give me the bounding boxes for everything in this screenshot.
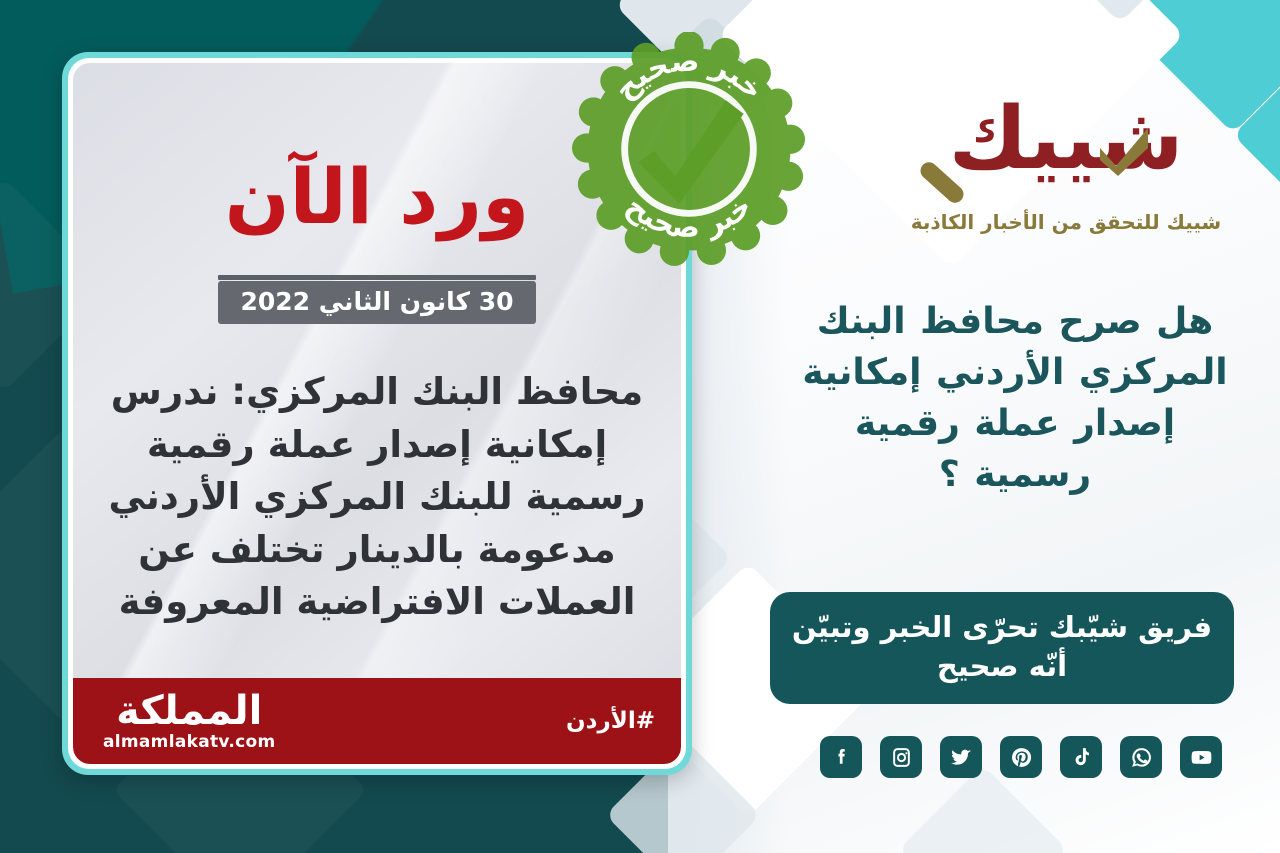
verified-stamp: خبر صحيح خبر صحيح bbox=[572, 32, 806, 266]
facebook-icon[interactable] bbox=[820, 736, 862, 778]
infographic-canvas: ورد الآن 30 كانون الثاني 2022 محافظ البن… bbox=[0, 0, 1280, 853]
verdict-box: فريق شيّبك تحرّى الخبر وتبيّن أنّه صحيح bbox=[770, 592, 1234, 704]
tiktok-icon[interactable] bbox=[1060, 736, 1102, 778]
chyyak-logo-tagline: شييك للتحقق من الأخبار الكاذبة bbox=[898, 210, 1234, 234]
chyyak-logo-wordmark: شييك bbox=[898, 96, 1234, 182]
chyyak-logo[interactable]: شييك شييك للتحقق من الأخبار الكاذبة bbox=[898, 96, 1234, 234]
twitter-icon[interactable] bbox=[940, 736, 982, 778]
almamlaka-logo[interactable]: المملكة almamlakatv.com bbox=[103, 691, 276, 751]
news-card-footer: #الأردن المملكة almamlakatv.com bbox=[73, 678, 681, 764]
almamlaka-brand-name: المملكة bbox=[103, 691, 276, 731]
chyyak-logo-mark: شييك bbox=[898, 96, 1234, 208]
hashtag-label[interactable]: #الأردن bbox=[566, 708, 655, 734]
youtube-icon[interactable] bbox=[1180, 736, 1222, 778]
pinterest-icon[interactable] bbox=[1000, 736, 1042, 778]
social-links bbox=[820, 736, 1222, 778]
panel-diamond-grey-5 bbox=[898, 765, 1068, 853]
whatsapp-icon[interactable] bbox=[1120, 736, 1162, 778]
news-card-text: محافظ البنك المركزي: ندرس إمكانية إصدار … bbox=[107, 366, 647, 629]
date-rule bbox=[218, 275, 536, 280]
magnifier-check-icon bbox=[1094, 122, 1154, 178]
instagram-icon[interactable] bbox=[880, 736, 922, 778]
fact-check-question: هل صرح محافظ البنك المركزي الأردني إمكان… bbox=[790, 296, 1240, 500]
almamlaka-url: almamlakatv.com bbox=[103, 734, 276, 751]
news-card-date: 30 كانون الثاني 2022 bbox=[218, 281, 535, 324]
news-card-date-group: 30 كانون الثاني 2022 bbox=[73, 275, 681, 324]
